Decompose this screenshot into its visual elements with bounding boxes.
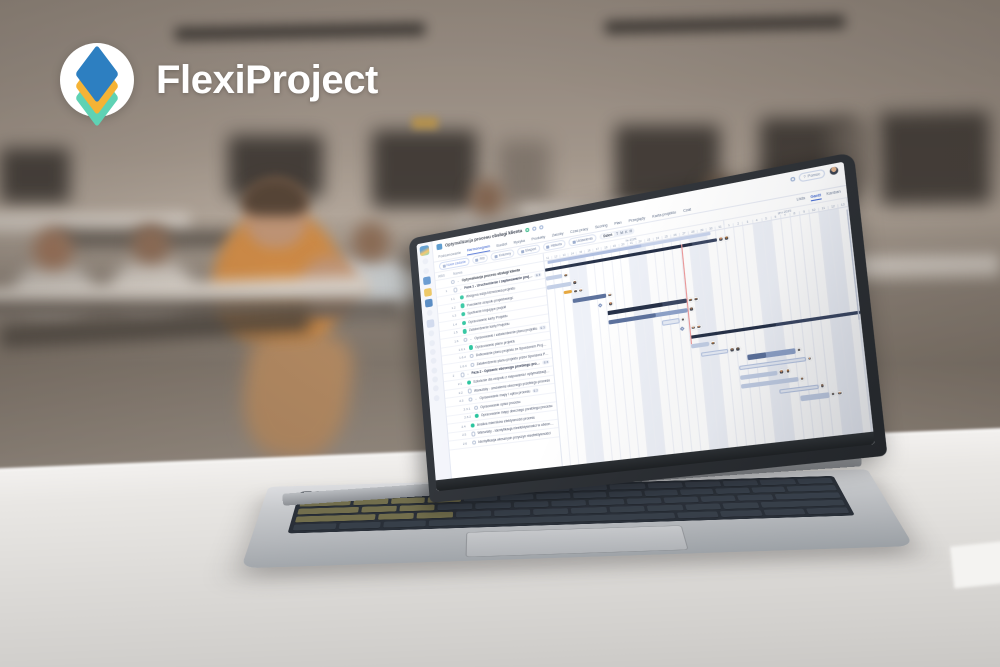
- gantt-bar[interactable]: [690, 310, 860, 339]
- avatar[interactable]: [563, 273, 568, 278]
- keyboard-key[interactable]: [608, 491, 642, 498]
- cloud-icon[interactable]: [433, 385, 439, 392]
- column-header-name: Nazwa: [453, 270, 463, 276]
- clock-icon[interactable]: [427, 310, 433, 317]
- status-badge[interactable]: [468, 397, 473, 402]
- keyboard-key[interactable]: [715, 488, 750, 495]
- toolbar-button-label: Nowe zadanie: [446, 260, 466, 267]
- gantt-bar[interactable]: [691, 342, 709, 349]
- avatar[interactable]: [836, 390, 842, 396]
- chart-icon[interactable]: [431, 358, 437, 365]
- gantt-bar-progress: [690, 323, 777, 339]
- zoom-option-r[interactable]: R: [629, 229, 632, 234]
- laptop: Optymalizacja procesu obsługi klienta ? …: [0, 0, 1000, 667]
- row-badge: E 3: [539, 325, 546, 330]
- gantt-bar[interactable]: [680, 327, 685, 332]
- chevron-down-icon[interactable]: ⌄: [457, 279, 460, 283]
- avatar[interactable]: [573, 289, 578, 294]
- calendar-icon[interactable]: [429, 339, 435, 346]
- avatar[interactable]: [680, 317, 686, 323]
- keyboard-key[interactable]: [572, 492, 606, 499]
- avatar[interactable]: [806, 355, 812, 361]
- keyboard-key[interactable]: [390, 497, 424, 504]
- question-icon: ?: [803, 174, 806, 179]
- status-badge[interactable]: [470, 362, 475, 367]
- keyboard-key[interactable]: [700, 495, 736, 502]
- status-badge[interactable]: [467, 380, 472, 385]
- keyboard-key[interactable]: [399, 505, 435, 512]
- chevron-down-icon[interactable]: ⌄: [469, 337, 472, 341]
- row-wbs: 1.6.1: [456, 346, 467, 352]
- avatar[interactable]: [785, 368, 791, 374]
- row-wbs: 2.4: [458, 424, 469, 429]
- status-badge[interactable]: [468, 389, 473, 394]
- gear-icon: [572, 240, 575, 244]
- status-badge[interactable]: [471, 423, 476, 428]
- heart-icon[interactable]: [432, 376, 438, 383]
- gantt-bar[interactable]: [564, 290, 573, 294]
- keyboard-key[interactable]: [796, 478, 833, 485]
- row-wbs: 2.6: [460, 441, 471, 446]
- zoom-option-k[interactable]: K: [625, 230, 628, 235]
- keyboard-key[interactable]: [720, 510, 763, 518]
- keyboard-key[interactable]: [297, 507, 359, 515]
- avatar[interactable]: [572, 280, 577, 286]
- chevron-down-icon[interactable]: ⌄: [467, 372, 470, 376]
- row-wbs: 2.3: [456, 398, 467, 403]
- history-icon: [546, 245, 549, 249]
- project-icon: [436, 243, 442, 250]
- keyboard-key[interactable]: [647, 505, 684, 512]
- keyboard-key[interactable]: [536, 493, 570, 500]
- avatar[interactable]: [861, 309, 867, 315]
- filter-icon: [475, 258, 478, 261]
- avatar[interactable]: [578, 288, 583, 294]
- gantt-bar[interactable]: [780, 384, 819, 394]
- zoom-option-m[interactable]: M: [620, 231, 623, 236]
- keyboard-key[interactable]: [685, 503, 722, 510]
- user-avatar[interactable]: [828, 165, 840, 177]
- gantt-bar[interactable]: [662, 318, 680, 325]
- status-badge[interactable]: [451, 279, 456, 284]
- keyboard-key[interactable]: [609, 483, 645, 490]
- bell-icon[interactable]: [790, 176, 795, 181]
- keyboard-key[interactable]: [533, 508, 569, 515]
- projects-icon[interactable]: [423, 276, 431, 285]
- keyboard-key[interactable]: [494, 509, 530, 516]
- avatar[interactable]: [779, 369, 785, 375]
- view-kanban[interactable]: Kanban: [826, 189, 841, 198]
- app-logo-icon[interactable]: [419, 245, 429, 256]
- gantt-bar[interactable]: [573, 293, 607, 303]
- view-lista[interactable]: Lista: [796, 196, 805, 204]
- keyboard-key[interactable]: [438, 503, 473, 510]
- folder-icon[interactable]: [430, 348, 436, 355]
- keyboard-key[interactable]: [722, 502, 759, 509]
- status-badge[interactable]: [463, 329, 468, 334]
- status-badge[interactable]: [475, 414, 480, 419]
- keyboard-key[interactable]: [589, 499, 625, 506]
- keyboard-key[interactable]: [774, 492, 841, 500]
- keyboard-key[interactable]: [551, 500, 586, 507]
- row-wbs: 2.3.1: [461, 406, 472, 411]
- status-badge[interactable]: [472, 440, 477, 445]
- row-wbs: 1: [441, 289, 452, 295]
- toolbar-button-label: Historia: [551, 242, 562, 248]
- status-badge[interactable]: [460, 303, 465, 308]
- keyboard-key[interactable]: [338, 522, 381, 530]
- keyboard-key[interactable]: [663, 497, 699, 504]
- column-header-wbs: WBS: [438, 272, 450, 278]
- chevron-down-icon[interactable]: ⌄: [459, 287, 462, 291]
- status-badge[interactable]: [453, 287, 458, 292]
- status-badge[interactable]: [469, 345, 474, 350]
- avatar[interactable]: [690, 325, 696, 331]
- status-check-icon[interactable]: [525, 227, 529, 232]
- keyboard-key[interactable]: [677, 511, 719, 519]
- avatar[interactable]: [607, 292, 612, 298]
- row-wbs: 1.2: [448, 305, 459, 311]
- row-wbs: 1.6.3: [458, 363, 469, 369]
- avatar[interactable]: [696, 324, 702, 330]
- row-wbs: 1.6.2: [457, 355, 468, 361]
- status-badge[interactable]: [460, 372, 465, 377]
- status-badge[interactable]: [470, 354, 475, 359]
- keyboard-key[interactable]: [722, 480, 759, 487]
- keyboard-key[interactable]: [786, 485, 837, 492]
- gantt-bar[interactable]: [547, 281, 572, 289]
- row-wbs: 2.3.2: [462, 415, 473, 420]
- status-badge[interactable]: [463, 337, 468, 342]
- keyboard-key[interactable]: [644, 490, 678, 497]
- row-wbs: 1.4: [450, 321, 461, 327]
- avatar[interactable]: [830, 391, 836, 397]
- star-icon[interactable]: [532, 226, 536, 231]
- keyboard-key[interactable]: [737, 494, 773, 501]
- row-badge: E 2: [532, 388, 539, 393]
- keyboard-key[interactable]: [647, 482, 683, 489]
- row-wbs: 1.5: [450, 330, 461, 336]
- toolbar-button-label: Ustawienia: [576, 236, 593, 243]
- avatar[interactable]: [799, 376, 805, 382]
- laptop-screen: Optymalizacja procesu obsługi klienta ? …: [416, 162, 874, 492]
- row-wbs: 2: [448, 373, 459, 378]
- avatar[interactable]: [735, 346, 741, 352]
- zoom-option-t[interactable]: T: [616, 232, 618, 237]
- row-wbs: 1.3: [449, 313, 460, 319]
- keyboard-key[interactable]: [417, 512, 453, 519]
- row-wbs: 1.1: [447, 296, 458, 302]
- home-icon[interactable]: [422, 258, 428, 265]
- task-list-panel: WBS Nazwa ⌄Optymalizacja procesu obsługi…: [435, 254, 564, 490]
- row-wbs: 1.6: [451, 338, 462, 344]
- toolbar-button-label: Kolumny: [499, 251, 512, 257]
- portfolio-icon[interactable]: [424, 287, 432, 296]
- gantt-bar[interactable]: [701, 348, 729, 356]
- keyboard-key[interactable]: [751, 487, 786, 494]
- row-wbs: 2.5: [459, 432, 470, 437]
- chevron-down-icon[interactable]: ⌄: [475, 397, 478, 401]
- more-icon[interactable]: [539, 224, 543, 229]
- keyboard-key[interactable]: [571, 507, 607, 514]
- avatar[interactable]: [687, 297, 693, 303]
- gantt-bar[interactable]: [740, 370, 778, 380]
- status-badge[interactable]: [474, 405, 479, 410]
- zoom-option-dzień[interactable]: Dzień: [601, 232, 614, 239]
- keyboard-key[interactable]: [293, 523, 337, 531]
- keyboard-key[interactable]: [807, 507, 850, 514]
- avatar[interactable]: [688, 306, 694, 312]
- help-label: Pomoc: [807, 171, 820, 178]
- keyboard-key[interactable]: [456, 511, 492, 518]
- avatar[interactable]: [608, 301, 613, 307]
- plus-icon: [442, 264, 445, 267]
- keyboard-key[interactable]: [759, 479, 796, 486]
- keyboard-key[interactable]: [680, 489, 715, 496]
- keyboard-key[interactable]: [514, 501, 549, 508]
- list-icon[interactable]: [431, 367, 437, 374]
- status-badge[interactable]: [471, 431, 476, 436]
- avatar[interactable]: [729, 347, 735, 353]
- trackpad[interactable]: [465, 525, 688, 557]
- export-icon: [521, 249, 524, 253]
- keyboard-key[interactable]: [476, 502, 511, 509]
- keyboard-key[interactable]: [626, 498, 662, 505]
- laptop-lid: Optymalizacja procesu obsługi klienta ? …: [409, 152, 888, 503]
- keyboard-key[interactable]: [378, 513, 415, 520]
- keyboard-key[interactable]: [383, 520, 425, 528]
- status-badge[interactable]: [461, 312, 466, 317]
- avatar[interactable]: [693, 296, 699, 302]
- gantt-bar[interactable]: [546, 274, 563, 281]
- link-icon[interactable]: [434, 395, 440, 402]
- keyboard-key[interactable]: [609, 506, 645, 513]
- keyboard-key[interactable]: [685, 481, 722, 488]
- toolbar-button-label: Filtr: [479, 256, 484, 261]
- row-wbs: 2.2: [455, 390, 466, 395]
- keyboard-key[interactable]: [763, 509, 806, 517]
- avatar[interactable]: [718, 236, 724, 242]
- row-wbs: [439, 282, 449, 284]
- avatar[interactable]: [710, 340, 716, 346]
- gantt-bar-progress: [748, 353, 767, 360]
- funnel-icon[interactable]: [428, 330, 434, 337]
- toolbar-button-label: Eksport: [525, 247, 536, 253]
- dashboard-icon[interactable]: [425, 298, 433, 307]
- gantt-bar[interactable]: [800, 393, 830, 401]
- avatar[interactable]: [819, 383, 825, 389]
- avatar[interactable]: [796, 347, 802, 353]
- row-wbs: 2.1: [455, 381, 466, 386]
- row-badge: E 8: [535, 273, 542, 278]
- gantt-bar-progress: [609, 313, 656, 325]
- gantt-bar-progress: [573, 293, 607, 303]
- task-rows[interactable]: ⌄Optymalizacja procesu obsługi klienta1⌄…: [436, 262, 563, 490]
- status-badge[interactable]: [460, 295, 465, 300]
- users-icon[interactable]: [426, 319, 434, 328]
- gantt-bar[interactable]: [598, 303, 603, 308]
- columns-icon: [495, 254, 498, 258]
- settings-icon[interactable]: [423, 267, 429, 274]
- avatar[interactable]: [724, 235, 730, 241]
- status-badge[interactable]: [462, 320, 467, 325]
- screenshot-stage: FlexiProject: [0, 0, 1000, 667]
- keyboard-key[interactable]: [361, 506, 397, 513]
- row-badge: E 8: [542, 360, 549, 365]
- view-gantt[interactable]: Gantt: [810, 193, 821, 201]
